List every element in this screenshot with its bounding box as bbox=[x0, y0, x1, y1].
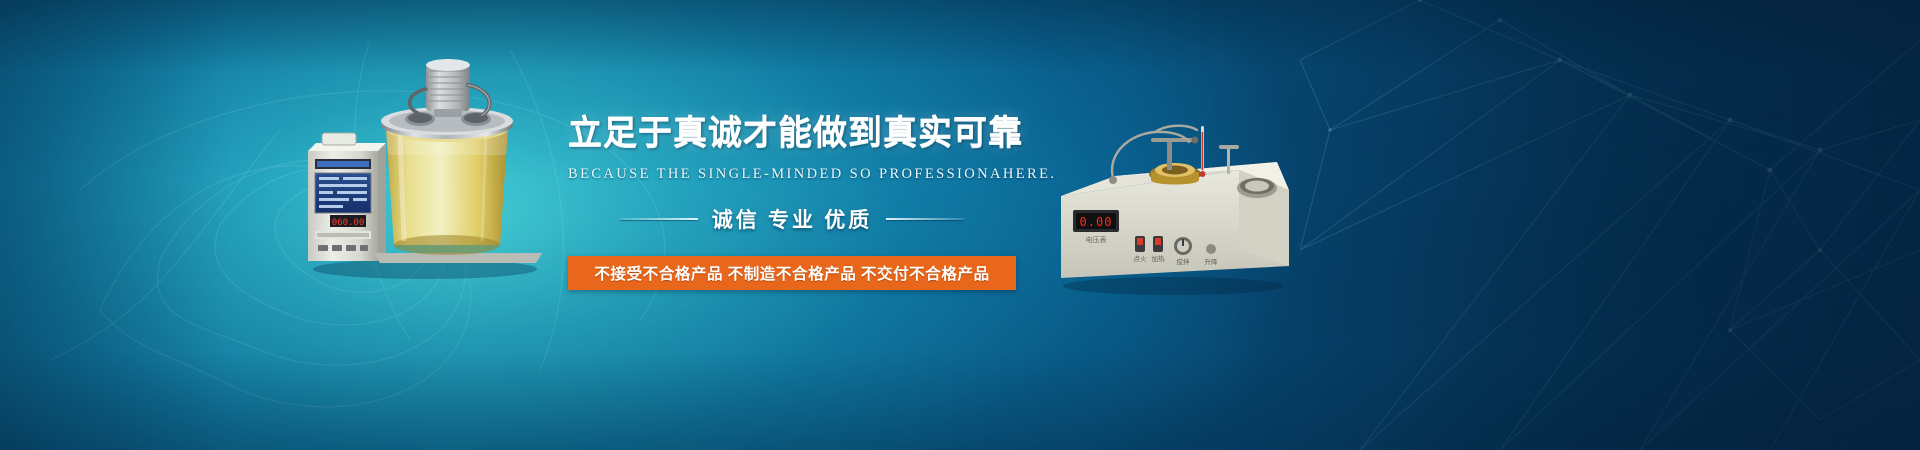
svg-text:搅拌: 搅拌 bbox=[1177, 257, 1191, 266]
control-console: 060.00 bbox=[308, 133, 386, 261]
keywords-row: 诚信 专业 优质 bbox=[568, 204, 1016, 234]
rule-right bbox=[886, 218, 964, 220]
keywords-text: 诚信 专业 优质 bbox=[712, 204, 873, 234]
rule-left bbox=[620, 218, 698, 220]
svg-text:加热: 加热 bbox=[1152, 254, 1166, 263]
svg-text:电压表: 电压表 bbox=[1086, 235, 1107, 244]
banner-copy: 立足于真诚才能做到真实可靠 BECAUSE THE SINGLE-MINDED … bbox=[568, 112, 1016, 290]
slogan-text: 不接受不合格产品 不制造不合格产品 不交付不合格产品 bbox=[594, 262, 989, 284]
brass-cup-assembly bbox=[1149, 137, 1201, 185]
svg-text:点火: 点火 bbox=[1134, 255, 1148, 263]
promo-banner: 060.00 bbox=[0, 0, 1920, 450]
svg-text:升降: 升降 bbox=[1205, 257, 1219, 266]
ignition-pivot bbox=[1109, 176, 1117, 184]
flash-point-tester-instrument: 0.00 电压表 点火 加热 搅拌 升降 bbox=[1055, 118, 1295, 298]
svg-text:0.00: 0.00 bbox=[1080, 215, 1113, 229]
svg-text:060.00: 060.00 bbox=[332, 218, 365, 228]
stirrer-motor bbox=[426, 59, 470, 117]
slogan-bar: 不接受不合格产品 不制造不合格产品 不交付不合格产品 bbox=[568, 256, 1016, 290]
viscometer-bath-instrument: 060.00 bbox=[300, 55, 550, 285]
sample-cup-well bbox=[1237, 178, 1277, 198]
headline-chinese: 立足于真诚才能做到真实可靠 bbox=[568, 112, 1016, 156]
subtitle-english: BECAUSE THE SINGLE-MINDED SO PROFESSIONA… bbox=[568, 166, 1016, 183]
